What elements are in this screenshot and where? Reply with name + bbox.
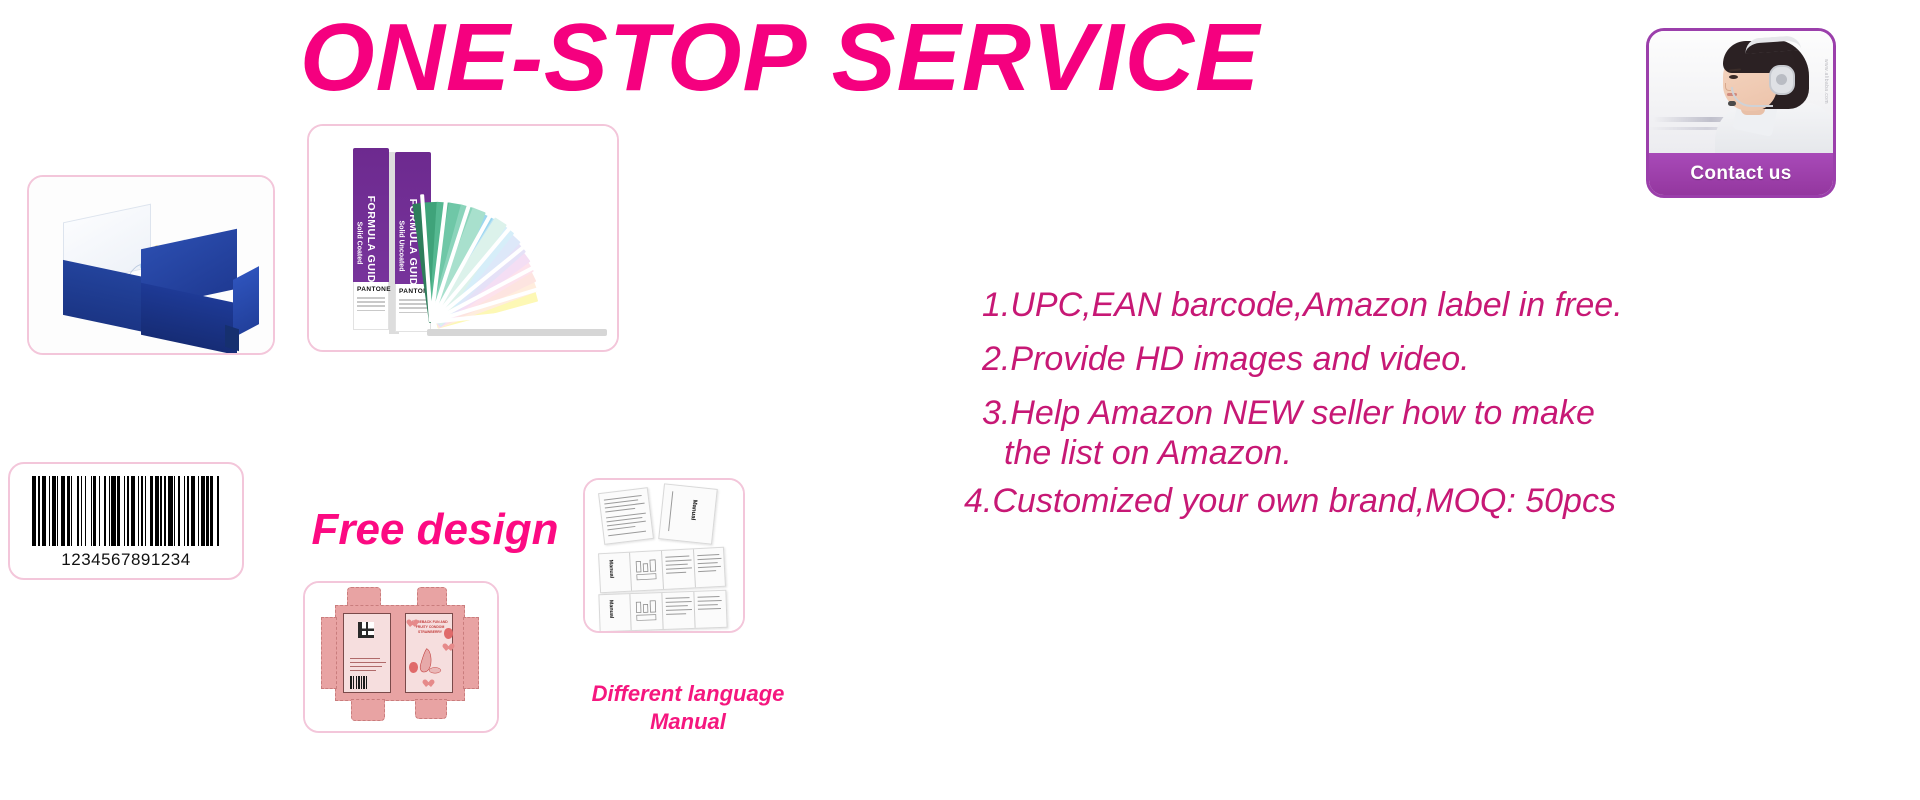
barcode-bars [32, 476, 220, 546]
fan-base [427, 329, 607, 336]
contact-us-label: Contact us [1690, 163, 1791, 185]
manual-cover-label: Manual [689, 499, 697, 520]
heart-icon [446, 644, 455, 653]
headset-microphone-icon [1728, 101, 1736, 106]
manual-diagram-icon [633, 557, 660, 582]
photo-watermark: www.alibaba.com [1823, 59, 1829, 104]
manual-caption-line1: Different language [558, 680, 818, 708]
gift-box-photo-card [27, 175, 275, 355]
manual-illustration: Manual Manual [585, 480, 743, 631]
dieline-top-flap-right [417, 587, 447, 607]
panel-text-line [350, 670, 376, 671]
heart-icon [410, 620, 419, 629]
dieline-left-tab [321, 617, 337, 689]
guide-coated-footer: PANTONE [353, 282, 389, 330]
feature-list: 1.UPC,EAN barcode,Amazon label in free. … [960, 288, 1680, 518]
barcode-number: 1234567891234 [10, 550, 242, 570]
manual-diagram-icon [634, 598, 661, 623]
guide-footer-lines [357, 297, 385, 314]
pantone-brand-label: PANTONE [357, 286, 391, 293]
dieline-card: BAREBACK FUN AND FRUITY CONDOM STRAWBERR… [303, 581, 499, 733]
manual-fold-label: Manual [608, 600, 615, 619]
barcode-card: 1234567891234 [8, 462, 244, 580]
dieline-front-panel: BAREBACK FUN AND FRUITY CONDOM STRAWBERR… [405, 613, 453, 693]
guide-footer-lines-2 [399, 299, 427, 316]
panel-text-line [350, 666, 382, 667]
free-design-caption: Free design [305, 505, 565, 555]
strawberry-icon [409, 662, 418, 673]
dieline-bottom-flap-left [351, 699, 385, 721]
color-swatch-fan [429, 144, 619, 336]
feature-item-3: 3.Help Amazon NEW seller how to make [982, 396, 1680, 430]
mini-barcode-bar [367, 676, 369, 689]
heart-icon [426, 680, 435, 689]
customer-service-photo: www.alibaba.com [1649, 31, 1833, 153]
manual-cover-booklet: Manual [658, 483, 718, 544]
guide-coated-title: FORMULA GUIDE [365, 195, 377, 290]
feature-item-1: 1.UPC,EAN barcode,Amazon label in free. [982, 288, 1680, 322]
page-title: ONE-STOP SERVICE [0, 8, 1560, 109]
box-pull-ribbon [225, 325, 239, 352]
blue-box-front [141, 283, 237, 355]
pantone-illustration: FORMULA GUIDE Solid Coated PANTONE FORMU… [309, 126, 617, 350]
manual-caption: Different language Manual [558, 680, 818, 735]
panel-text-line [350, 662, 386, 663]
qr-code-icon [358, 622, 374, 638]
pantone-guide-coated: FORMULA GUIDE Solid Coated PANTONE [353, 148, 389, 330]
feature-item-4: 4.Customized your own brand,MOQ: 50pcs [964, 484, 1680, 518]
dieline-back-panel [343, 613, 391, 693]
manual-printed-page [598, 487, 654, 545]
manual-fold-label: Manual [607, 560, 614, 579]
contact-us-widget[interactable]: www.alibaba.com Contact us [1646, 28, 1836, 198]
contact-us-button[interactable]: Contact us [1649, 153, 1833, 195]
gift-box-illustration [29, 177, 273, 353]
panel-barcode-icon [350, 676, 372, 689]
manual-caption-line2: Manual [558, 708, 818, 736]
manual-folded-sheet: Manual [598, 590, 727, 632]
one-stop-service-banner: ONE-STOP SERVICE [0, 0, 1920, 800]
dieline-bottom-flap-right [415, 699, 447, 719]
pantone-photo-card: FORMULA GUIDE Solid Coated PANTONE FORMU… [307, 124, 619, 352]
blue-box-side [233, 266, 259, 338]
agent-eye [1729, 75, 1738, 79]
dieline-illustration: BAREBACK FUN AND FRUITY CONDOM STRAWBERR… [305, 583, 497, 731]
manual-card: Manual Manual [583, 478, 745, 633]
guide-coated-subtitle: Solid Coated [356, 221, 363, 264]
manual-folded-sheet: Manual [598, 547, 726, 594]
panel-text-line [350, 658, 380, 659]
dieline-right-tab [463, 617, 479, 689]
feature-item-2: 2.Provide HD images and video. [982, 342, 1680, 376]
barcode-bar [219, 476, 220, 546]
guide-uncoated-subtitle: Solid Uncoated [398, 220, 405, 271]
feature-item-3-continued: the list on Amazon. [1004, 436, 1680, 470]
strawberry-icon [444, 628, 453, 639]
